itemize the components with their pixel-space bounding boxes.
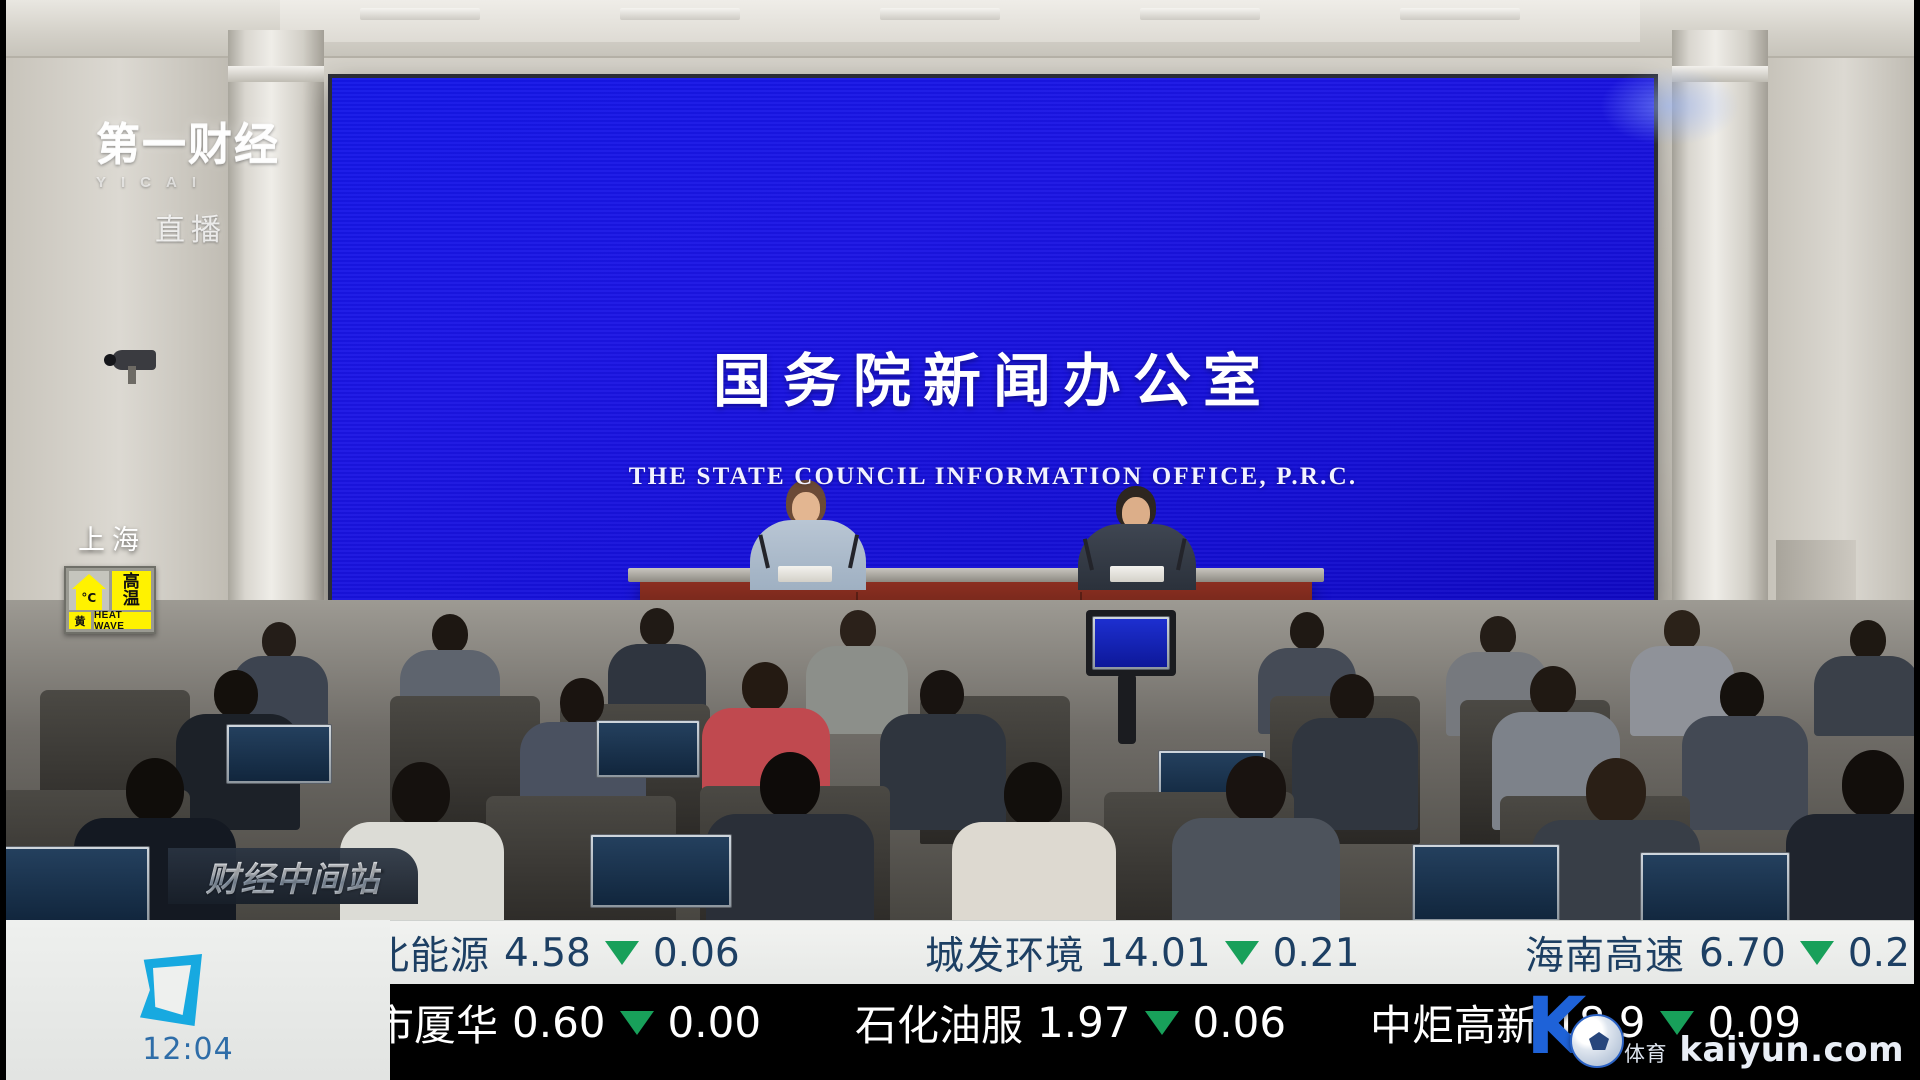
quote-change: 0.00	[668, 998, 762, 1047]
quote-price: 14.01	[1099, 931, 1211, 976]
channel-logo: 第一财经 YICAI 直播	[96, 108, 286, 249]
press-laptop	[0, 846, 150, 924]
quote-name: 石化油服	[855, 992, 1023, 1053]
ticker-quote-light[interactable]: 湖北能源 4.58 0.06	[330, 925, 740, 981]
triangle-down-icon	[605, 941, 639, 965]
clock: 12:04	[128, 1032, 248, 1067]
screen-title-en: THE STATE COUNCIL INFORMATION OFFICE, P.…	[332, 463, 1654, 491]
yicai-mark-icon	[140, 954, 202, 1026]
press-laptop	[1640, 852, 1790, 928]
triangle-down-icon	[1800, 941, 1834, 965]
triangle-down-icon	[620, 1011, 654, 1035]
screen-glare	[1600, 66, 1740, 146]
ticker-quote-dark[interactable]: 石化油服 1.97 0.06	[855, 992, 1286, 1053]
heat-wave-cn-label: 高 温	[112, 571, 152, 610]
degree-label: °C	[81, 591, 96, 605]
press-laptop	[596, 720, 700, 778]
led-backdrop-screen: 国务院新闻办公室 THE STATE COUNCIL INFORMATION O…	[332, 78, 1654, 608]
press-laptop	[590, 834, 732, 908]
quote-name: 中炬高新	[1370, 992, 1538, 1053]
broadcast-screenshot: 国务院新闻办公室 THE STATE COUNCIL INFORMATION O…	[0, 0, 1920, 1080]
wall-camera-mount	[128, 366, 136, 384]
quote-change: 0.06	[1193, 998, 1287, 1047]
program-banner: 财经中间站	[168, 848, 418, 904]
press-laptop	[226, 724, 332, 784]
channel-logo-en: YICAI	[96, 174, 286, 191]
watermark-domain: kaiyun.com	[1679, 1030, 1904, 1070]
quote-change: 0.06	[653, 931, 740, 976]
nameplate-right	[1110, 566, 1164, 582]
quote-price: 6.70	[1699, 931, 1786, 976]
temperature-house-icon: °C	[69, 571, 109, 610]
letterbox-left	[0, 0, 6, 1080]
camera-tripod	[1118, 674, 1136, 744]
watermark-text: 体育 kaiyun.com	[1624, 1030, 1904, 1076]
heat-char-2: 温	[123, 591, 140, 608]
live-badge: 直播	[96, 205, 286, 249]
heat-char-1: 高	[123, 574, 140, 591]
screen-title-cn: 国务院新闻办公室	[332, 334, 1654, 418]
ticker-quote-dark[interactable]: 退市厦华 0.60 0.00	[330, 992, 761, 1053]
football-icon	[1570, 1014, 1624, 1068]
alert-level-en: HEAT WAVE	[94, 612, 151, 629]
watermark-secondary: 体育	[1624, 1042, 1667, 1066]
quote-change: 0.21	[1273, 931, 1360, 976]
video-frame: 国务院新闻办公室 THE STATE COUNCIL INFORMATION O…	[0, 0, 1920, 1080]
quote-price: 1.97	[1037, 998, 1131, 1047]
quote-price: 0.60	[512, 998, 606, 1047]
quote-change: 0.2	[1848, 931, 1910, 976]
quote-name: 海南高速	[1525, 925, 1685, 981]
ticker-quote-light[interactable]: 城发环境 14.01 0.21	[925, 925, 1360, 981]
watermark: K 体育 kaiyun.com	[1526, 984, 1904, 1076]
program-banner-title: 财经中间站	[206, 852, 381, 901]
triangle-down-icon	[1225, 941, 1259, 965]
heat-wave-warning-badge: °C 高 温 黄 HEAT WAVE	[64, 566, 156, 634]
alert-level-cn: 黄	[69, 612, 91, 629]
kaiyun-logo-icon: K	[1526, 984, 1618, 1076]
nameplate-left	[778, 566, 832, 582]
city-label: 上海	[78, 518, 146, 557]
camera-monitor	[1092, 616, 1170, 670]
channel-logo-cn: 第一财经	[96, 108, 286, 172]
press-laptop	[1412, 844, 1560, 922]
triangle-down-icon	[1145, 1011, 1179, 1035]
ticker-logo-panel: 12:04	[0, 920, 390, 1080]
quote-name: 城发环境	[925, 925, 1085, 981]
quote-price: 4.58	[504, 931, 591, 976]
ticker-quote-light[interactable]: 海南高速 6.70 0.2	[1525, 925, 1910, 981]
letterbox-right	[1914, 0, 1920, 1080]
